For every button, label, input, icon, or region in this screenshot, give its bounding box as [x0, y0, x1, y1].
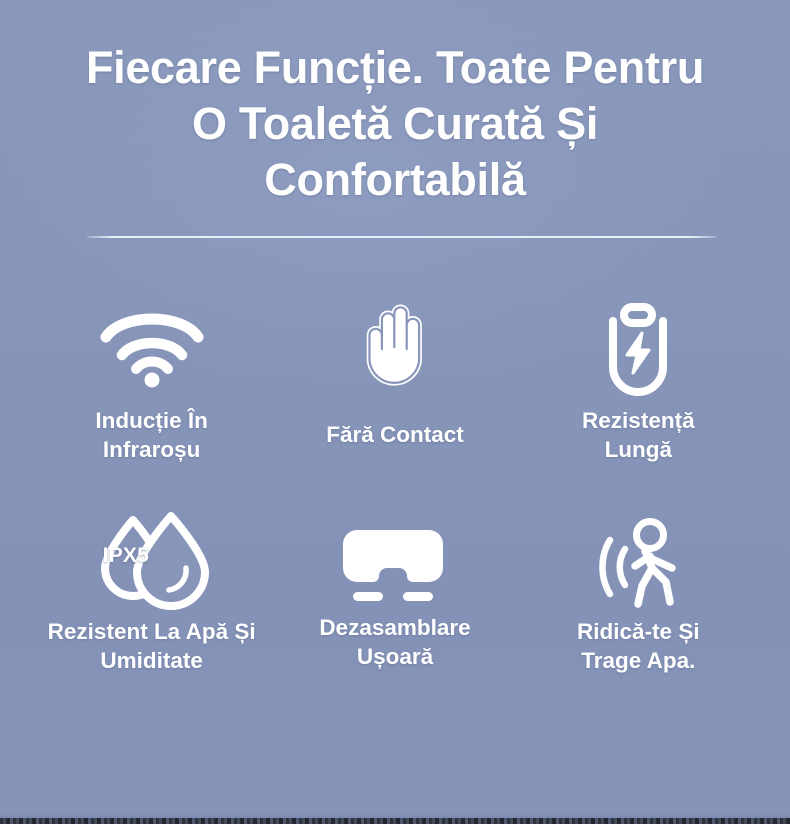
- feature-label: Fără Contact: [326, 420, 464, 449]
- feature-item-long-battery: Rezistență Lungă: [517, 300, 760, 505]
- feature-item-auto-flush: Ridică-te Și Trage Apa.: [517, 505, 760, 710]
- feature-label: Ridică-te Și Trage Apa.: [577, 617, 700, 675]
- wifi-infrared-icon: [100, 294, 204, 404]
- battery-charging-icon: [602, 294, 674, 404]
- feature-label: Rezistență Lungă: [582, 406, 695, 464]
- water-drops-icon: IPX5: [93, 503, 211, 613]
- hand-palm-icon: [352, 296, 438, 406]
- toilet-seat-icon: [341, 511, 445, 621]
- feature-grid: Inducție În Infraroșu Fără Contact Re: [30, 300, 760, 710]
- walking-person-sensor-icon: [592, 507, 688, 617]
- page-title: Fiecare Funcție. Toate Pentru O Toaletă …: [40, 40, 750, 208]
- ipx5-badge: IPX5: [103, 544, 149, 568]
- feature-item-waterproof: IPX5 Rezistent La Apă Și Umiditate: [30, 505, 273, 710]
- title-divider: [87, 236, 717, 238]
- feature-item-easy-disassembly: Dezasamblare Ușoară: [273, 505, 516, 710]
- feature-label: Dezasamblare Ușoară: [319, 613, 470, 671]
- bottom-edge-artifact: [0, 818, 790, 824]
- feature-label: Rezistent La Apă Și Umiditate: [48, 617, 256, 675]
- feature-panel: Fiecare Funcție. Toate Pentru O Toaletă …: [0, 0, 790, 824]
- feature-item-no-contact: Fără Contact: [273, 300, 516, 505]
- feature-item-infrared-induction: Inducție În Infraroșu: [30, 300, 273, 505]
- feature-label: Inducție În Infraroșu: [95, 406, 208, 464]
